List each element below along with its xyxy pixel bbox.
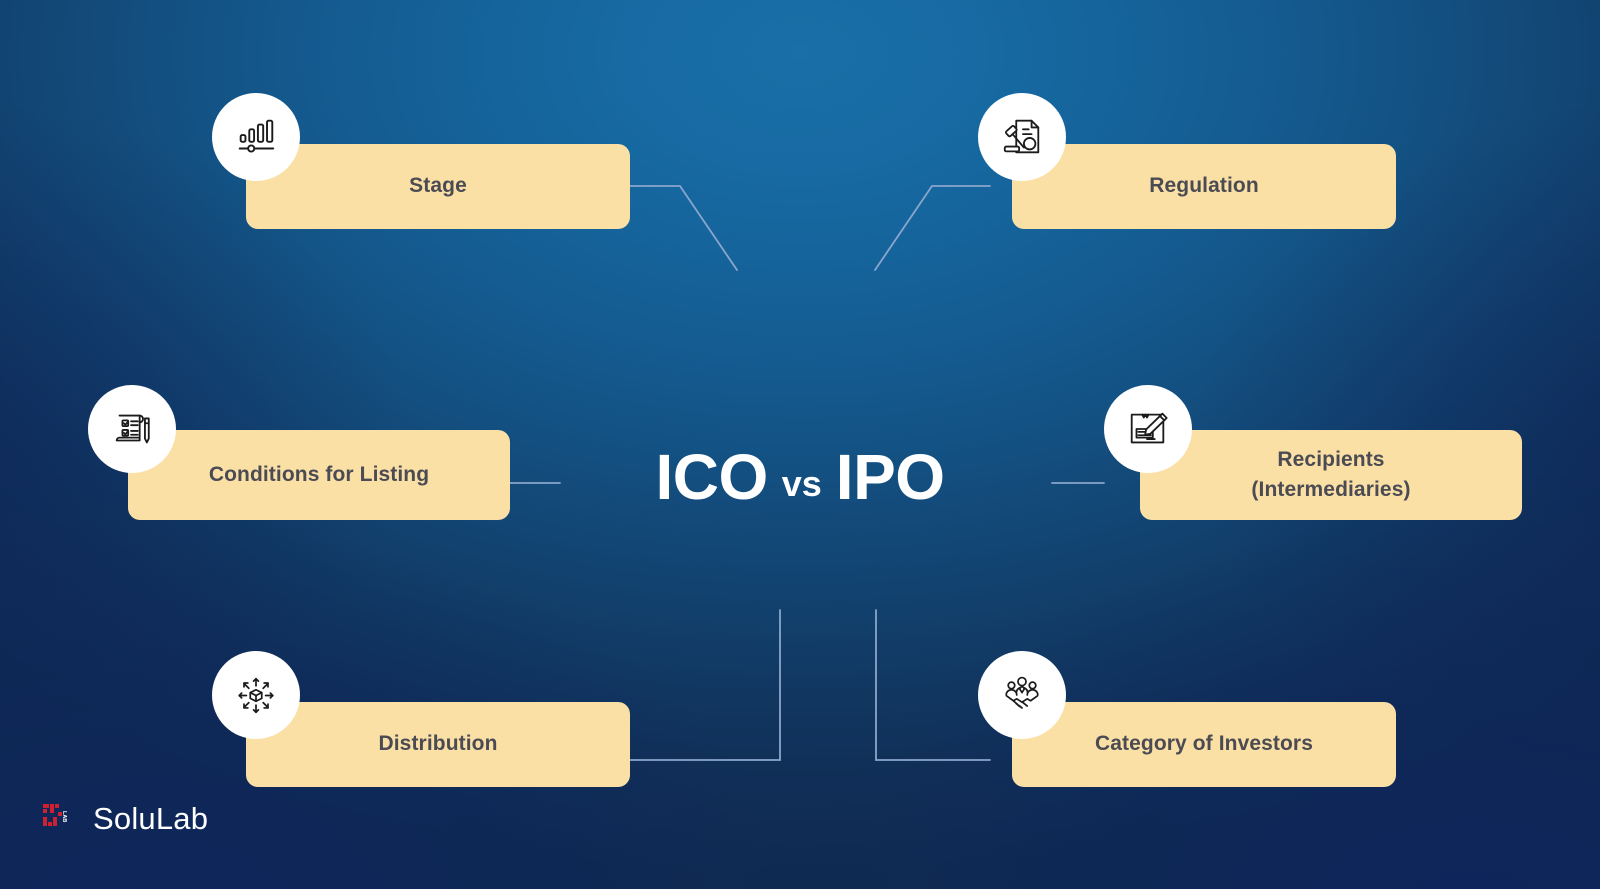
pill-label-distribution: Distribution — [360, 729, 515, 759]
people-handshake-icon — [999, 672, 1045, 718]
brand-logo[interactable]: LAB SoluLab — [42, 800, 208, 838]
badge-recipients-intermediaries — [1104, 385, 1192, 473]
badge-distribution — [212, 651, 300, 739]
pill-stage[interactable]: Stage — [246, 144, 630, 229]
checklist-scroll-pen-icon — [109, 406, 155, 452]
gavel-document-icon — [999, 114, 1045, 160]
title-ipo: IPO — [836, 440, 945, 514]
title-ico: ICO — [655, 440, 767, 514]
brand-mark-label: LAB — [61, 811, 67, 822]
pill-label-stage: Stage — [391, 171, 485, 201]
pill-conditions-for-listing[interactable]: Conditions for Listing — [128, 430, 510, 520]
pill-label-regulation: Regulation — [1131, 171, 1277, 201]
infographic-canvas: Stage Regulation — [0, 0, 1600, 889]
pill-regulation[interactable]: Regulation — [1012, 144, 1396, 229]
badge-regulation — [978, 93, 1066, 181]
pill-label-conditions-for-listing: Conditions for Listing — [191, 460, 447, 490]
pill-label-recipients-intermediaries: Recipients (Intermediaries) — [1233, 445, 1428, 506]
cheque-signing-pen-icon — [1125, 406, 1171, 452]
pill-label-category-of-investors: Category of Investors — [1077, 729, 1331, 759]
pill-recipients-intermediaries[interactable]: Recipients (Intermediaries) — [1140, 430, 1522, 520]
bar-chart-slider-icon — [233, 114, 279, 160]
badge-category-of-investors — [978, 651, 1066, 739]
pill-distribution[interactable]: Distribution — [246, 702, 630, 787]
badge-stage — [212, 93, 300, 181]
cube-arrows-outward-icon — [233, 672, 279, 718]
badge-conditions-for-listing — [88, 385, 176, 473]
brand-name: SoluLab — [93, 801, 208, 837]
title-vs: vs — [782, 463, 822, 505]
pill-category-of-investors[interactable]: Category of Investors — [1012, 702, 1396, 787]
solulab-mark-icon: LAB — [42, 800, 80, 838]
center-title: ICO vs IPO — [560, 432, 1040, 522]
